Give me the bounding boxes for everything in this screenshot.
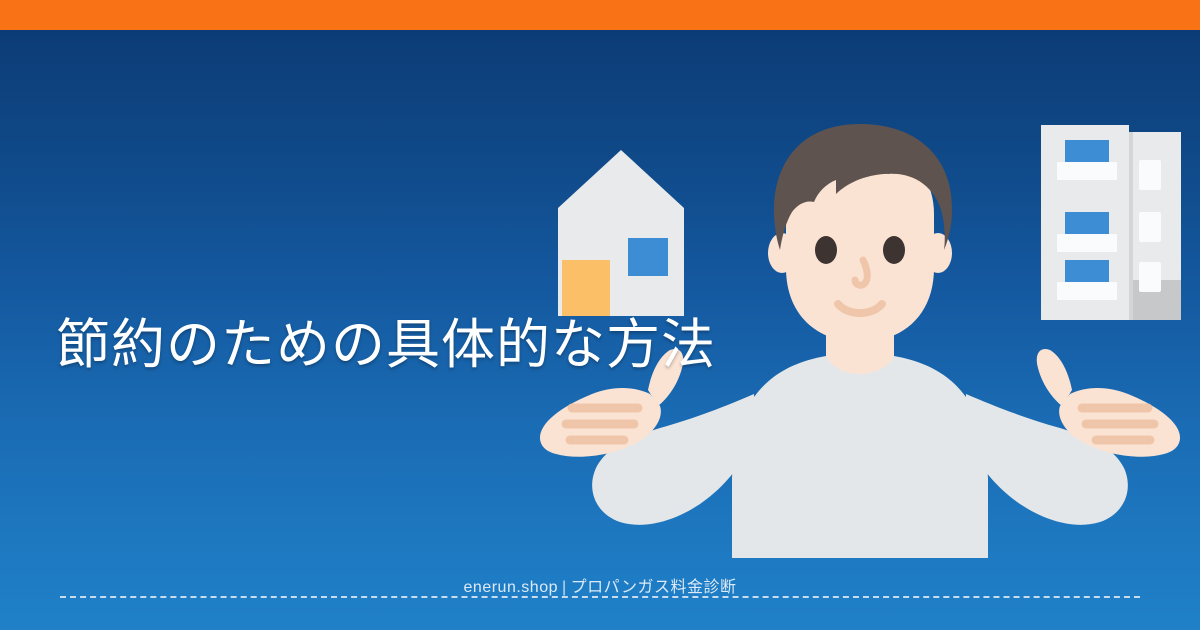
share-card-canvas: 節約のための具体的な方法 enerun.shop|プロパンガス料金診断: [0, 0, 1200, 630]
footer-tagline: プロパンガス料金診断: [571, 579, 737, 596]
accent-bar: [0, 0, 1200, 30]
person-left-eye-shape: [815, 236, 837, 264]
right-hand-thumb-shape: [1037, 349, 1072, 406]
hero-stage: 節約のための具体的な方法 enerun.shop|プロパンガス料金診断: [0, 30, 1200, 630]
page-title: 節約のための具体的な方法: [56, 314, 716, 376]
footer-branding: enerun.shop|プロパンガス料金診断: [0, 573, 1200, 597]
footer-separator: |: [562, 579, 567, 596]
person-shirt-shape: [732, 356, 988, 558]
person-right-eye-shape: [883, 236, 905, 264]
footer-site-name: enerun.shop: [464, 579, 558, 596]
